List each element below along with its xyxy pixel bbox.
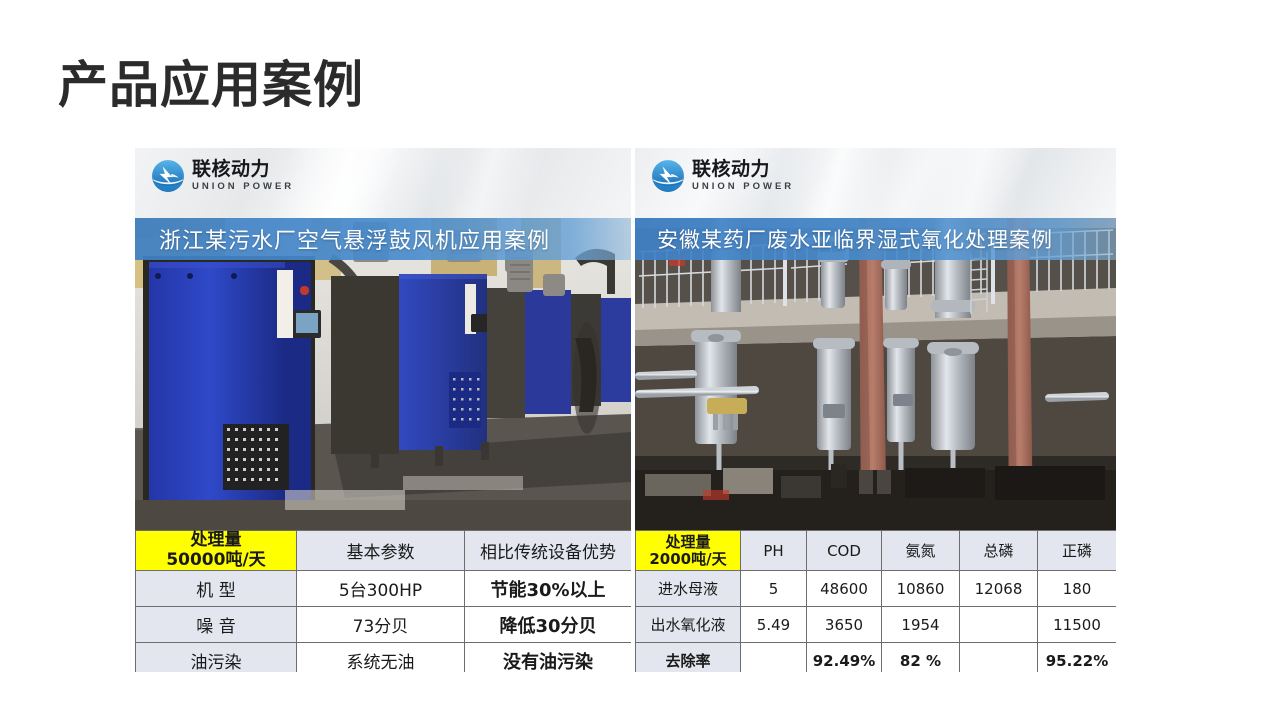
case-card-left: 联核动力 UNION POWER — [135, 148, 631, 672]
brand-name-cn: 联核动力 — [192, 160, 294, 179]
row-value: 73分贝 — [297, 607, 465, 643]
wet-oxidation-plant-photo — [635, 218, 1116, 530]
table-header-row: 处理量 50000吨/天 基本参数 相比传统设备优势 — [136, 531, 632, 571]
blower-room-photo — [135, 218, 631, 530]
page-title: 产品应用案例 — [58, 58, 364, 113]
cell-total-phosphorus — [960, 643, 1038, 673]
table-header-orthophosphate: 正磷 — [1038, 531, 1117, 571]
table-header-cod: COD — [807, 531, 882, 571]
cell-ph — [741, 643, 807, 673]
cell-orthophosphate: 180 — [1038, 571, 1117, 607]
table-header-basic-params: 基本参数 — [297, 531, 465, 571]
case-photo-card-left: 联核动力 UNION POWER — [135, 148, 631, 530]
cell-cod: 48600 — [807, 571, 882, 607]
case-photo-card-right: 联核动力 UNION POWER — [635, 148, 1116, 530]
cell-total-phosphorus — [960, 607, 1038, 643]
cell-orthophosphate: 11500 — [1038, 607, 1117, 643]
brand-text-right: 联核动力 UNION POWER — [692, 160, 794, 192]
case-title-left: 浙江某污水厂空气悬浮鼓风机应用案例 — [159, 223, 550, 255]
row-label: 出水氧化液 — [636, 607, 741, 643]
cell-ammonia-nitrogen: 82 % — [882, 643, 960, 673]
cell-ammonia-nitrogen: 1954 — [882, 607, 960, 643]
cell-total-phosphorus: 12068 — [960, 571, 1038, 607]
table-row: 出水氧化液 5.49 3650 1954 11500 — [636, 607, 1117, 643]
brand-band-left: 联核动力 UNION POWER — [135, 148, 631, 218]
table-row: 机 型 5台300HP 节能30%以上 — [136, 571, 632, 607]
table-row: 进水母液 5 48600 10860 12068 180 — [636, 571, 1117, 607]
cell-ammonia-nitrogen: 10860 — [882, 571, 960, 607]
table-header-advantage: 相比传统设备优势 — [465, 531, 632, 571]
brand-name-cn: 联核动力 — [692, 160, 794, 179]
brand-text-left: 联核动力 UNION POWER — [192, 160, 294, 192]
row-advantage: 降低30分贝 — [465, 607, 632, 643]
capacity-value: 2000吨/天 — [636, 551, 740, 568]
row-advantage: 节能30%以上 — [465, 571, 632, 607]
row-label: 油污染 — [136, 643, 297, 673]
spec-table-right: 处理量 2000吨/天 PH COD 氨氮 总磷 正磷 进水母液 5 48600… — [635, 530, 1116, 672]
brand-logo-left: 联核动力 UNION POWER — [151, 159, 294, 193]
row-advantage: 没有油污染 — [465, 643, 632, 673]
row-value: 5台300HP — [297, 571, 465, 607]
case-title-band-right: 安徽某药厂废水亚临界湿式氧化处理案例 — [635, 218, 1116, 260]
table-row: 去除率 92.49% 82 % 95.22% — [636, 643, 1117, 673]
table-header-ph: PH — [741, 531, 807, 571]
row-value: 系统无油 — [297, 643, 465, 673]
capacity-value: 50000吨/天 — [136, 551, 296, 570]
table-header-capacity: 处理量 50000吨/天 — [136, 531, 297, 571]
cell-orthophosphate: 95.22% — [1038, 643, 1117, 673]
capacity-label: 处理量 — [636, 534, 740, 551]
union-power-swoosh-icon — [151, 159, 185, 193]
table-header-ammonia-nitrogen: 氨氮 — [882, 531, 960, 571]
cell-cod: 92.49% — [807, 643, 882, 673]
row-label: 进水母液 — [636, 571, 741, 607]
brand-name-en: UNION POWER — [692, 182, 794, 192]
cell-ph: 5.49 — [741, 607, 807, 643]
row-label: 去除率 — [636, 643, 741, 673]
brand-band-right: 联核动力 UNION POWER — [635, 148, 1116, 218]
cell-cod: 3650 — [807, 607, 882, 643]
brand-name-en: UNION POWER — [192, 182, 294, 192]
row-label: 机 型 — [136, 571, 297, 607]
case-title-right: 安徽某药厂废水亚临界湿式氧化处理案例 — [657, 224, 1053, 254]
row-label: 噪 音 — [136, 607, 297, 643]
case-photo-right — [635, 218, 1116, 530]
cell-ph: 5 — [741, 571, 807, 607]
table-header-capacity: 处理量 2000吨/天 — [636, 531, 741, 571]
spec-table-left: 处理量 50000吨/天 基本参数 相比传统设备优势 机 型 5台300HP 节… — [135, 530, 631, 672]
case-card-right: 联核动力 UNION POWER — [635, 148, 1116, 672]
slide-root: 产品应用案例 — [0, 0, 1280, 720]
capacity-label: 处理量 — [136, 531, 296, 550]
case-title-band-left: 浙江某污水厂空气悬浮鼓风机应用案例 — [135, 218, 631, 260]
case-photo-left — [135, 218, 631, 530]
union-power-swoosh-icon — [651, 159, 685, 193]
brand-logo-right: 联核动力 UNION POWER — [651, 159, 794, 193]
table-header-total-phosphorus: 总磷 — [960, 531, 1038, 571]
table-header-row: 处理量 2000吨/天 PH COD 氨氮 总磷 正磷 — [636, 531, 1117, 571]
table-row: 噪 音 73分贝 降低30分贝 — [136, 607, 632, 643]
table-row: 油污染 系统无油 没有油污染 — [136, 643, 632, 673]
